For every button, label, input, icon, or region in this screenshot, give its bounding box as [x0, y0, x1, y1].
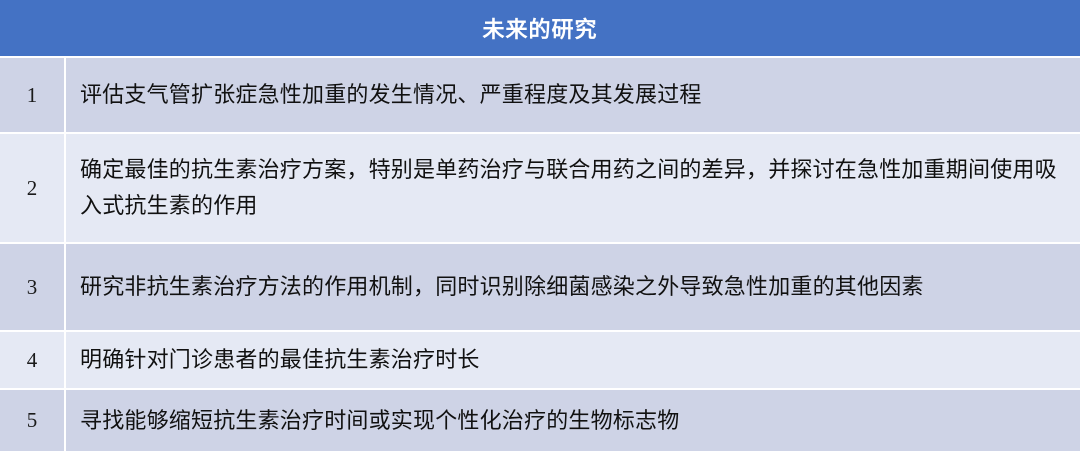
row-number-cell: 2 — [0, 134, 66, 242]
row-text: 研究非抗生素治疗方法的作用机制，同时识别除细菌感染之外导致急性加重的其他因素 — [80, 269, 924, 305]
table-row: 2 确定最佳的抗生素治疗方案，特别是单药治疗与联合用药之间的差异，并探讨在急性加… — [0, 134, 1080, 244]
table-row: 3 研究非抗生素治疗方法的作用机制，同时识别除细菌感染之外导致急性加重的其他因素 — [0, 244, 1080, 332]
row-number-cell: 4 — [0, 332, 66, 388]
row-text: 寻找能够缩短抗生素治疗时间或实现个性化治疗的生物标志物 — [80, 403, 679, 439]
table-row: 5 寻找能够缩短抗生素治疗时间或实现个性化治疗的生物标志物 — [0, 390, 1080, 451]
row-number-cell: 1 — [0, 58, 66, 132]
row-number: 3 — [27, 275, 38, 300]
row-text: 评估支气管扩张症急性加重的发生情况、严重程度及其发展过程 — [80, 77, 702, 113]
row-text: 确定最佳的抗生素治疗方案，特别是单药治疗与联合用药之间的差异，并探讨在急性加重期… — [80, 152, 1066, 224]
row-text: 明确针对门诊患者的最佳抗生素治疗时长 — [80, 342, 480, 378]
row-text-cell: 寻找能够缩短抗生素治疗时间或实现个性化治疗的生物标志物 — [66, 390, 1080, 451]
row-number: 2 — [27, 176, 38, 201]
row-number: 4 — [27, 348, 38, 373]
row-text-cell: 研究非抗生素治疗方法的作用机制，同时识别除细菌感染之外导致急性加重的其他因素 — [66, 244, 1080, 330]
table-header: 未来的研究 — [0, 0, 1080, 58]
row-number: 5 — [27, 408, 38, 433]
table-row: 1 评估支气管扩张症急性加重的发生情况、严重程度及其发展过程 — [0, 58, 1080, 134]
future-research-table: 未来的研究 1 评估支气管扩张症急性加重的发生情况、严重程度及其发展过程 2 确… — [0, 0, 1080, 451]
row-text-cell: 评估支气管扩张症急性加重的发生情况、严重程度及其发展过程 — [66, 58, 1080, 132]
table-title: 未来的研究 — [482, 12, 597, 44]
row-number: 1 — [27, 83, 38, 108]
row-text-cell: 明确针对门诊患者的最佳抗生素治疗时长 — [66, 332, 1080, 388]
table-row: 4 明确针对门诊患者的最佳抗生素治疗时长 — [0, 332, 1080, 390]
row-text-cell: 确定最佳的抗生素治疗方案，特别是单药治疗与联合用药之间的差异，并探讨在急性加重期… — [66, 134, 1080, 242]
table-body: 1 评估支气管扩张症急性加重的发生情况、严重程度及其发展过程 2 确定最佳的抗生… — [0, 58, 1080, 451]
row-number-cell: 5 — [0, 390, 66, 451]
row-number-cell: 3 — [0, 244, 66, 330]
